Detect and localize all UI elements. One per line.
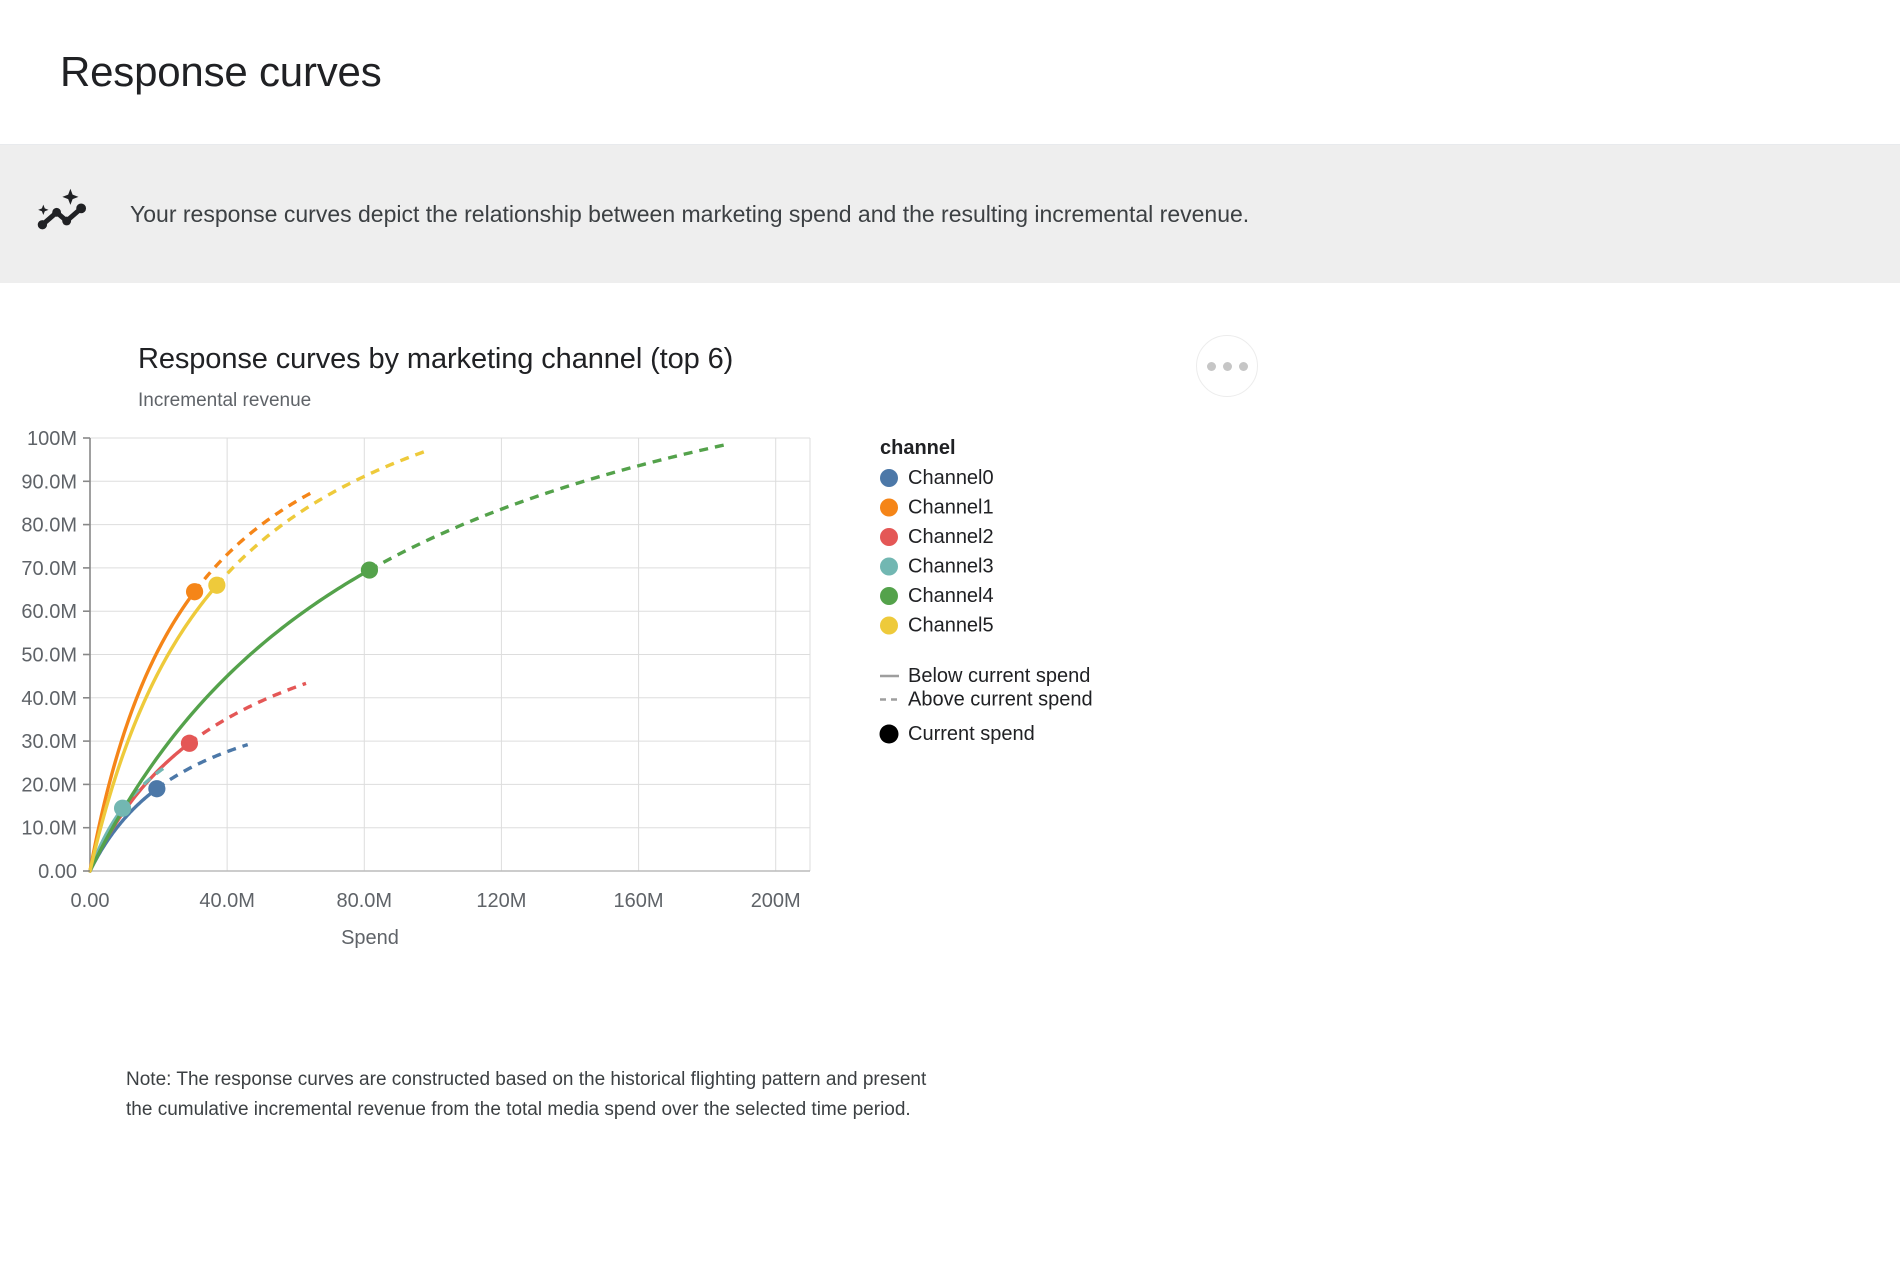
current-spend-marker — [208, 577, 225, 594]
chart-subtitle: Incremental revenue — [138, 390, 1900, 412]
legend-label: Channel2 — [908, 526, 994, 548]
svg-text:90.0M: 90.0M — [21, 471, 77, 493]
chart-title: Response curves by marketing channel (to… — [138, 343, 1900, 376]
svg-text:50.0M: 50.0M — [21, 645, 77, 667]
chart-gridlines — [90, 438, 810, 871]
svg-text:120M: 120M — [476, 890, 526, 912]
svg-text:30.0M: 30.0M — [21, 731, 77, 753]
svg-text:0.00: 0.00 — [38, 861, 77, 883]
current-spend-marker — [186, 583, 203, 600]
overflow-menu-button[interactable] — [1196, 335, 1258, 397]
svg-text:60.0M: 60.0M — [21, 601, 77, 623]
x-axis-ticks: 0.0040.0M80.0M120M160M200M — [71, 890, 801, 912]
menu-dot-icon — [1223, 362, 1232, 371]
svg-text:20.0M: 20.0M — [21, 774, 77, 796]
svg-text:40.0M: 40.0M — [199, 890, 255, 912]
svg-text:160M: 160M — [614, 890, 664, 912]
legend-label: Channel1 — [908, 497, 994, 519]
sparkle-trend-icon — [34, 186, 90, 242]
legend-swatch — [880, 499, 898, 517]
svg-text:40.0M: 40.0M — [21, 688, 77, 710]
current-spend-marker — [181, 735, 198, 752]
y-axis-ticks: 0.0010.0M20.0M30.0M40.0M50.0M60.0M70.0M8… — [21, 428, 90, 883]
svg-text:100M: 100M — [27, 428, 77, 450]
svg-text:Spend: Spend — [341, 927, 399, 949]
current-spend-markers — [114, 561, 378, 816]
svg-text:channel: channel — [880, 437, 956, 459]
legend-swatch — [880, 725, 899, 744]
legend-label: Channel3 — [908, 556, 994, 578]
response-curves-card: Response curves by marketing channel (to… — [0, 283, 1900, 1125]
menu-dot-icon — [1207, 362, 1216, 371]
svg-text:80.0M: 80.0M — [21, 515, 77, 537]
legend-swatch — [880, 617, 898, 635]
svg-text:10.0M: 10.0M — [21, 818, 77, 840]
chart-plot-wrapper: 0.0040.0M80.0M120M160M200M 0.0010.0M20.0… — [0, 426, 1900, 1061]
page-title: Response curves — [60, 48, 382, 96]
insight-banner: Your response curves depict the relation… — [0, 145, 1900, 283]
current-spend-marker — [148, 780, 165, 797]
svg-text:70.0M: 70.0M — [21, 558, 77, 580]
legend-label: Below current spend — [908, 665, 1090, 687]
svg-text:0.00: 0.00 — [71, 890, 110, 912]
current-spend-marker — [114, 800, 131, 817]
legend-swatch — [880, 587, 898, 605]
legend-label: Channel0 — [908, 467, 994, 489]
axis-titles: Spend — [341, 927, 399, 949]
legend-label: Channel5 — [908, 615, 994, 637]
page-header: Response curves — [0, 0, 1900, 145]
legend-label: Current spend — [908, 723, 1035, 745]
chart-curves — [90, 445, 724, 871]
legend-label: Channel4 — [908, 585, 994, 607]
legend-swatch — [880, 528, 898, 546]
chart-note: Note: The response curves are constructe… — [0, 1065, 940, 1125]
menu-dot-icon — [1239, 362, 1248, 371]
current-spend-marker — [361, 561, 378, 578]
chart-legend[interactable]: channelChannel0Channel1Channel2Channel3C… — [880, 437, 1093, 745]
legend-swatch — [880, 558, 898, 576]
insight-banner-text: Your response curves depict the relation… — [130, 201, 1249, 228]
legend-label: Above current spend — [908, 689, 1093, 711]
legend-swatch — [880, 469, 898, 487]
chart-header: Response curves by marketing channel (to… — [0, 343, 1900, 412]
svg-text:200M: 200M — [751, 890, 801, 912]
response-curves-chart[interactable]: 0.0040.0M80.0M120M160M200M 0.0010.0M20.0… — [0, 426, 1500, 1056]
svg-text:80.0M: 80.0M — [336, 890, 392, 912]
